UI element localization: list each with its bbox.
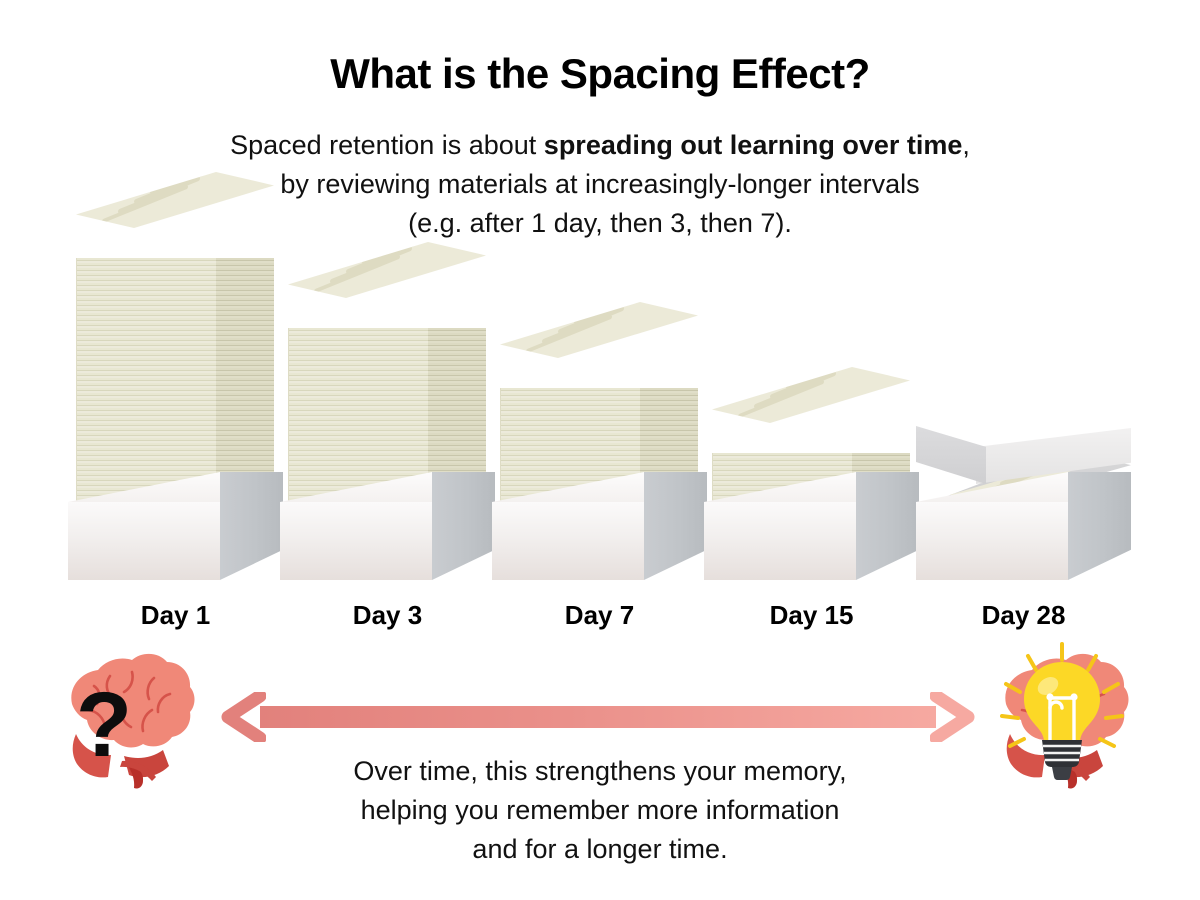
arrow-shaft [260, 706, 936, 728]
paper-stack-day-7 [492, 230, 707, 580]
day-label-day-15: Day 15 [704, 600, 919, 631]
paper-top-face [500, 302, 698, 358]
paper-tray [280, 472, 495, 580]
tray-front-rim [916, 472, 1068, 502]
paper-stack-day-1 [68, 230, 283, 580]
paper-top-face [712, 367, 910, 423]
tray-side-face [220, 472, 283, 580]
day-label-day-1: Day 1 [68, 600, 283, 631]
double-headed-arrow-icon [218, 688, 978, 746]
paper-stack-chart [0, 230, 1200, 580]
paper-tray [916, 472, 1131, 580]
tray-side-face [644, 472, 707, 580]
tray-side-face [856, 472, 919, 580]
subtitle-line-1: Spaced retention is about spreading out … [0, 126, 1200, 165]
tray-front-face [68, 502, 220, 580]
tray-front-rim [704, 472, 856, 502]
caption-line-2: helping you remember more information [0, 791, 1200, 830]
tray-front-face [704, 502, 856, 580]
paper-tray [68, 472, 283, 580]
tray-front-face [280, 502, 432, 580]
footer-caption: Over time, this strengthens your memory,… [0, 752, 1200, 869]
paper-front-face [76, 258, 216, 508]
paper-tray [704, 472, 919, 580]
subtitle-emphasis: spreading out learning over time [544, 130, 963, 160]
subtitle-text-b: , [962, 130, 970, 160]
paper-block [76, 202, 274, 508]
tray-side-face [432, 472, 495, 580]
tray-side-face [1068, 472, 1131, 580]
paper-stack-day-28 [916, 230, 1131, 580]
day-label-day-28: Day 28 [916, 600, 1131, 631]
tray-front-face [492, 502, 644, 580]
arrow-head-left [218, 692, 266, 742]
paper-stack-day-3 [280, 230, 495, 580]
paper-tray [492, 472, 707, 580]
infographic-root: What is the Spacing Effect? Spaced reten… [0, 0, 1200, 900]
paper-top-face [288, 242, 486, 298]
day-label-day-3: Day 3 [280, 600, 495, 631]
page-title: What is the Spacing Effect? [0, 50, 1200, 98]
tray-front-rim [492, 472, 644, 502]
subtitle-text-a: Spaced retention is about [230, 130, 544, 160]
day-label-day-7: Day 7 [492, 600, 707, 631]
tray-front-rim [68, 472, 220, 502]
caption-line-3: and for a longer time. [0, 830, 1200, 869]
paper-side-face [216, 258, 274, 508]
tray-front-face [916, 502, 1068, 580]
paper-stack-day-15 [704, 230, 919, 580]
tray-front-rim [280, 472, 432, 502]
caption-line-1: Over time, this strengthens your memory, [0, 752, 1200, 791]
